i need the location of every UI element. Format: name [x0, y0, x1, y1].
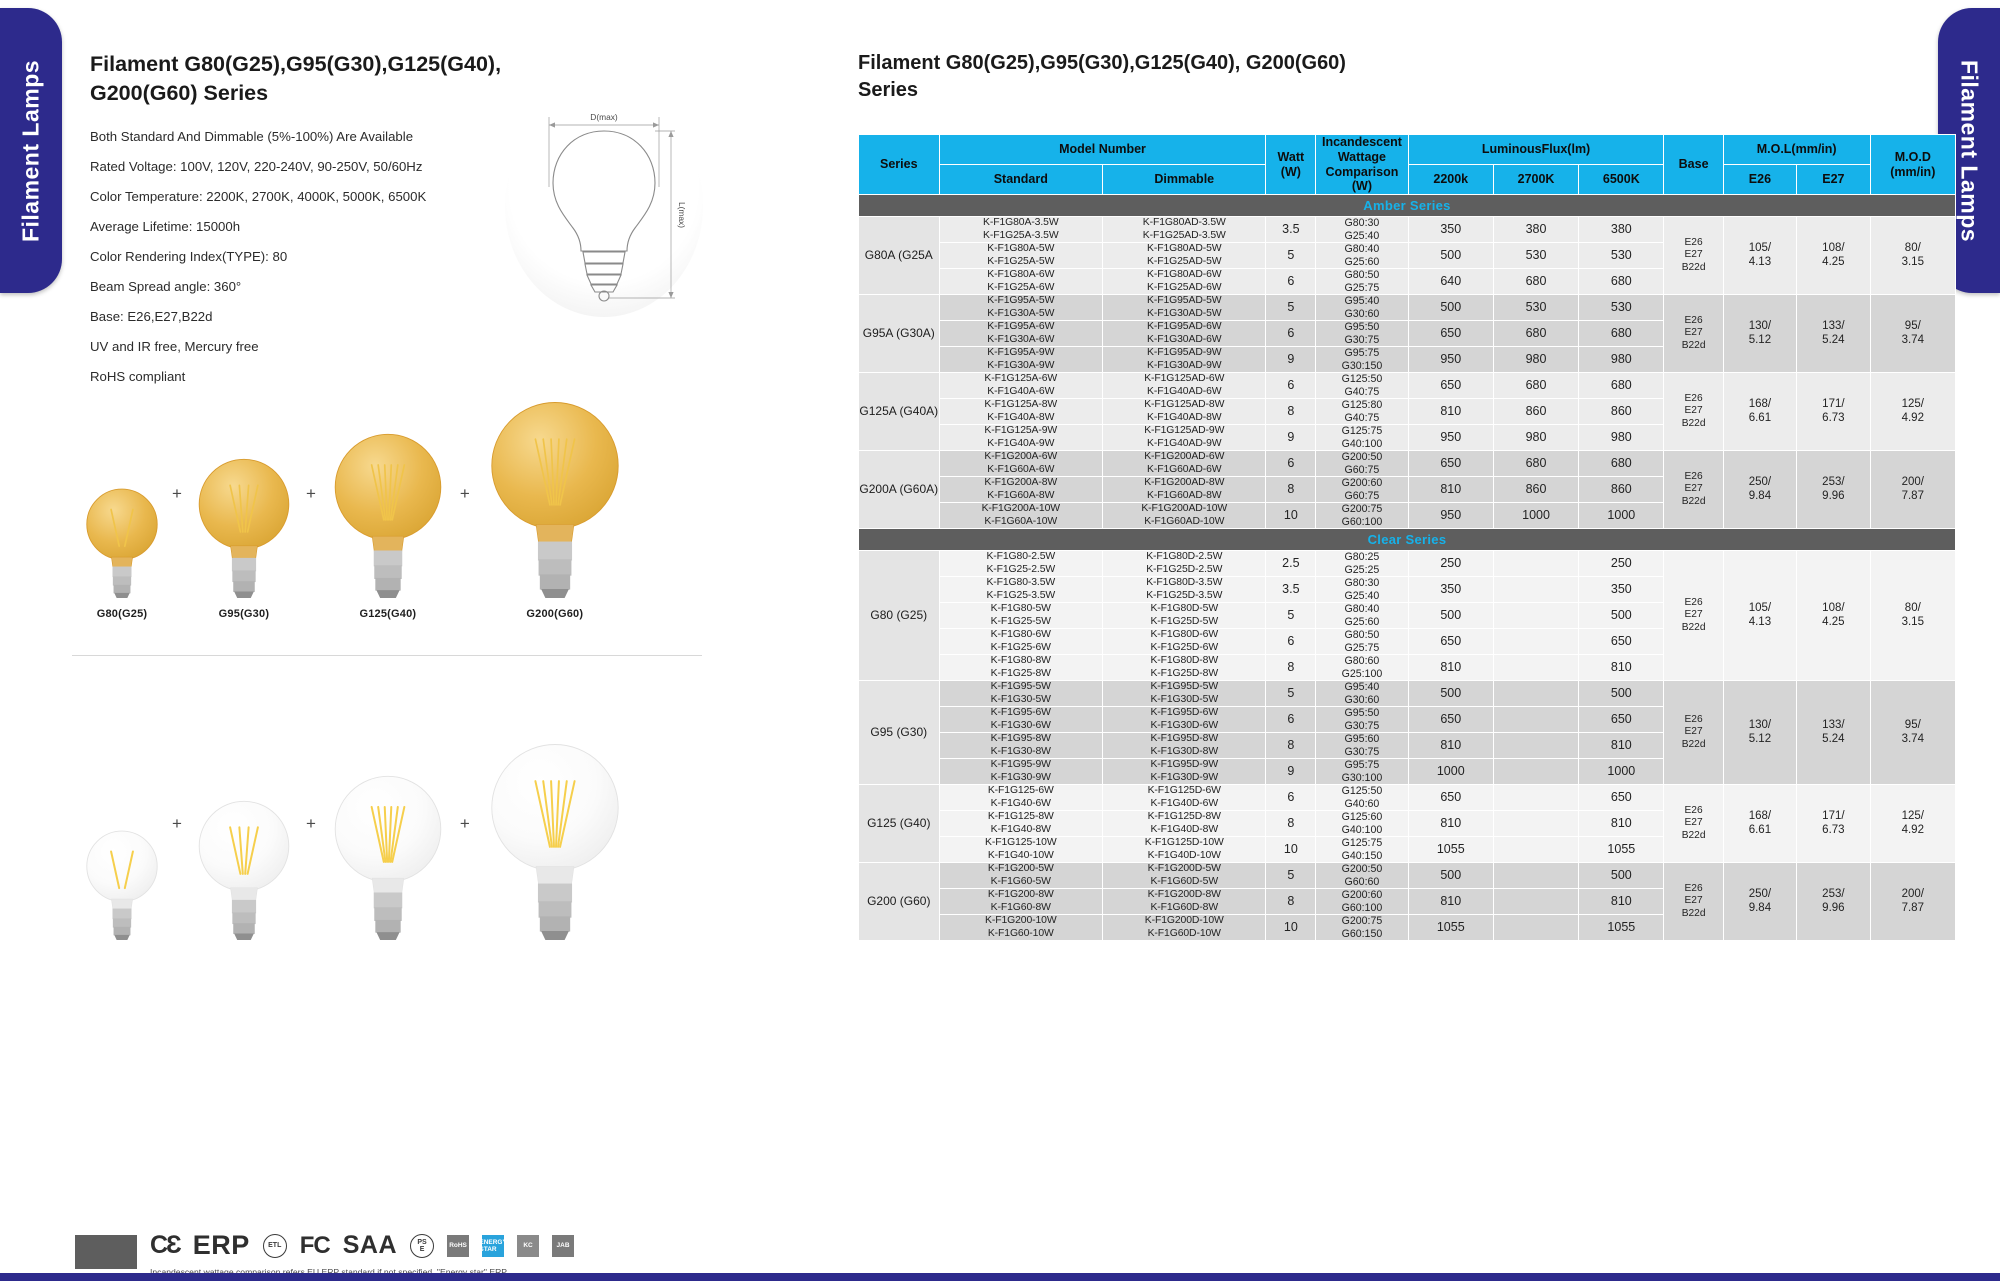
- certification-logo-row: CƐERPETLFCSAAPSERoHSENERGY STARKCJAB: [150, 1230, 574, 1261]
- cell-flux-6500k: 650: [1579, 629, 1664, 655]
- cell-mod: 95/3.74: [1870, 295, 1955, 373]
- cell-base: E26E27B22d: [1664, 373, 1723, 451]
- cell-flux-2700k: 980: [1493, 425, 1578, 451]
- left-side-ribbon: Filament Lamps: [0, 8, 62, 293]
- bulb-label: G125(G40): [359, 608, 416, 620]
- table-title: Filament G80(G25),G95(G30),G125(G40), G2…: [858, 50, 1378, 104]
- amber-bulb-gallery: G80(G25)+ G95(G30)+ G125: [78, 415, 703, 620]
- cell-mol-e26: 168/6.61: [1723, 785, 1796, 863]
- bulb-item: [322, 764, 454, 950]
- cell-mod: 80/3.15: [1870, 217, 1955, 295]
- cell-incandescent-comparison: G80:40G25:60: [1316, 603, 1408, 629]
- cell-flux-6500k: 860: [1579, 477, 1664, 503]
- cell-standard-model: K-F1G80-6WK-F1G25-6W: [939, 629, 1102, 655]
- cell-incandescent-comparison: G80:60G25:100: [1316, 655, 1408, 681]
- cell-flux-2700k: [1493, 915, 1578, 941]
- cell-dimmable-model: K-F1G80D-6WK-F1G25D-6W: [1103, 629, 1266, 655]
- cell-dimmable-model: K-F1G125AD-6WK-F1G40AD-6W: [1103, 373, 1266, 399]
- cell-dimmable-model: K-F1G80AD-3.5WK-F1G25AD-3.5W: [1103, 217, 1266, 243]
- cell-incandescent-comparison: G80:40G25:60: [1316, 243, 1408, 269]
- section-divider: [72, 655, 702, 656]
- cell-incandescent-comparison: G125:50G40:60: [1316, 785, 1408, 811]
- cell-flux-2200k: 250: [1408, 551, 1493, 577]
- cell-flux-2700k: [1493, 603, 1578, 629]
- cell-flux-2200k: 500: [1408, 681, 1493, 707]
- cell-incandescent-comparison: G200:75G60:100: [1316, 503, 1408, 529]
- cell-dimmable-model: K-F1G125D-10WK-F1G40D-10W: [1103, 837, 1266, 863]
- spec-item: UV and IR free, Mercury free: [90, 339, 790, 356]
- cell-standard-model: K-F1G80A-3.5WK-F1G25A-3.5W: [939, 217, 1102, 243]
- cell-flux-2200k: 500: [1408, 603, 1493, 629]
- cell-flux-2700k: 860: [1493, 399, 1578, 425]
- cell-watt: 9: [1266, 347, 1316, 373]
- cell-standard-model: K-F1G200A-10WK-F1G60A-10W: [939, 503, 1102, 529]
- table-body: Amber SeriesG80A (G25AK-F1G80A-3.5WK-F1G…: [859, 195, 1956, 941]
- cell-flux-6500k: 650: [1579, 785, 1664, 811]
- cell-watt: 2.5: [1266, 551, 1316, 577]
- cell-dimmable-model: K-F1G95D-8WK-F1G30D-8W: [1103, 733, 1266, 759]
- cell-flux-6500k: 380: [1579, 217, 1664, 243]
- cell-flux-6500k: 680: [1579, 451, 1664, 477]
- cell-standard-model: K-F1G125A-9WK-F1G40A-9W: [939, 425, 1102, 451]
- cell-standard-model: K-F1G200-8WK-F1G60-8W: [939, 889, 1102, 915]
- cell-flux-2700k: 380: [1493, 217, 1578, 243]
- cell-dimmable-model: K-F1G80D-2.5WK-F1G25D-2.5W: [1103, 551, 1266, 577]
- cell-watt: 5: [1266, 603, 1316, 629]
- cell-mod: 200/7.87: [1870, 451, 1955, 529]
- cell-incandescent-comparison: G125:75G40:150: [1316, 837, 1408, 863]
- bulb-separator: +: [172, 484, 182, 504]
- cell-watt: 8: [1266, 477, 1316, 503]
- table-header: Series Model Number Watt (W) Incandescen…: [859, 135, 1956, 195]
- cell-flux-2200k: 350: [1408, 577, 1493, 603]
- cell-incandescent-comparison: G125:80G40:75: [1316, 399, 1408, 425]
- table-row: G95A (G30A)K-F1G95A-5WK-F1G30A-5WK-F1G95…: [859, 295, 1956, 321]
- cell-flux-2200k: 950: [1408, 503, 1493, 529]
- cell-flux-2700k: [1493, 707, 1578, 733]
- cell-standard-model: K-F1G125-6WK-F1G40-6W: [939, 785, 1102, 811]
- bulb-separator: +: [306, 814, 316, 834]
- cell-incandescent-comparison: G200:50G60:75: [1316, 451, 1408, 477]
- cell-incandescent-comparison: G95:50G30:75: [1316, 321, 1408, 347]
- cell-base: E26E27B22d: [1664, 785, 1723, 863]
- cell-watt: 8: [1266, 733, 1316, 759]
- cell-flux-2700k: 680: [1493, 451, 1578, 477]
- cell-series: G80A (G25A: [859, 217, 940, 295]
- bulb-illustration: [188, 449, 300, 598]
- cell-watt: 6: [1266, 373, 1316, 399]
- cell-watt: 3.5: [1266, 217, 1316, 243]
- header-incandescent-main: Incandescent Wattage Comparison: [1316, 135, 1407, 179]
- bulb-label: G200(G60): [526, 608, 583, 620]
- series-band-row: Clear Series: [859, 529, 1956, 551]
- cell-base: E26E27B22d: [1664, 451, 1723, 529]
- cell-flux-6500k: 810: [1579, 733, 1664, 759]
- bulb-item: G80(G25): [78, 481, 166, 620]
- cell-standard-model: K-F1G200A-8WK-F1G60A-8W: [939, 477, 1102, 503]
- erp-mark: ERP: [193, 1230, 250, 1261]
- cell-flux-2700k: [1493, 681, 1578, 707]
- cell-flux-2700k: [1493, 811, 1578, 837]
- cell-mol-e27: 171/6.73: [1797, 373, 1870, 451]
- ce-mark: CƐ: [150, 1231, 180, 1260]
- cell-flux-2700k: 530: [1493, 295, 1578, 321]
- bulb-item: G95(G30): [188, 449, 300, 620]
- cell-flux-6500k: 810: [1579, 889, 1664, 915]
- cell-dimmable-model: K-F1G200AD-8WK-F1G60AD-8W: [1103, 477, 1266, 503]
- cell-flux-2700k: [1493, 733, 1578, 759]
- table-row: G125A (G40A)K-F1G125A-6WK-F1G40A-6WK-F1G…: [859, 373, 1956, 399]
- cell-dimmable-model: K-F1G80D-3.5WK-F1G25D-3.5W: [1103, 577, 1266, 603]
- cell-base: E26E27B22d: [1664, 295, 1723, 373]
- cell-dimmable-model: K-F1G95D-9WK-F1G30D-9W: [1103, 759, 1266, 785]
- cell-flux-6500k: 680: [1579, 321, 1664, 347]
- cell-incandescent-comparison: G200:60G60:100: [1316, 889, 1408, 915]
- cell-base: E26E27B22d: [1664, 681, 1723, 785]
- cell-flux-6500k: 500: [1579, 603, 1664, 629]
- header-mol-e26: E26: [1723, 165, 1796, 195]
- specification-table: Series Model Number Watt (W) Incandescen…: [858, 134, 1956, 941]
- bulb-item: [188, 791, 300, 950]
- cell-flux-2700k: 680: [1493, 373, 1578, 399]
- cell-flux-6500k: 1000: [1579, 759, 1664, 785]
- header-mol: M.O.L(mm/in): [1723, 135, 1870, 165]
- cell-flux-2200k: 650: [1408, 707, 1493, 733]
- cell-standard-model: K-F1G125A-6WK-F1G40A-6W: [939, 373, 1102, 399]
- table-row: G125 (G40)K-F1G125-6WK-F1G40-6WK-F1G125D…: [859, 785, 1956, 811]
- cell-incandescent-comparison: G80:30G25:40: [1316, 217, 1408, 243]
- cell-mol-e26: 130/5.12: [1723, 295, 1796, 373]
- cell-flux-2200k: 1000: [1408, 759, 1493, 785]
- cell-flux-2700k: [1493, 863, 1578, 889]
- spec-item: RoHS compliant: [90, 369, 790, 386]
- cell-flux-2200k: 500: [1408, 295, 1493, 321]
- cell-standard-model: K-F1G95-5WK-F1G30-5W: [939, 681, 1102, 707]
- cell-flux-2200k: 650: [1408, 785, 1493, 811]
- cell-watt: 6: [1266, 707, 1316, 733]
- cell-series: G200A (G60A): [859, 451, 940, 529]
- cell-flux-2200k: 650: [1408, 629, 1493, 655]
- bulb-separator: +: [306, 484, 316, 504]
- cell-series: G95 (G30): [859, 681, 940, 785]
- cell-standard-model: K-F1G95-6WK-F1G30-6W: [939, 707, 1102, 733]
- cell-dimmable-model: K-F1G95AD-9WK-F1G30AD-9W: [1103, 347, 1266, 373]
- cell-flux-2200k: 950: [1408, 347, 1493, 373]
- cell-standard-model: K-F1G80-3.5WK-F1G25-3.5W: [939, 577, 1102, 603]
- cell-flux-2700k: 680: [1493, 321, 1578, 347]
- cell-incandescent-comparison: G95:75G30:150: [1316, 347, 1408, 373]
- cell-flux-6500k: 530: [1579, 295, 1664, 321]
- cell-flux-6500k: 1055: [1579, 837, 1664, 863]
- header-watt-unit: (W): [1266, 165, 1315, 180]
- kc-mark: KC: [517, 1235, 539, 1257]
- series-band-label: Clear Series: [859, 529, 1956, 551]
- bulb-illustration: [78, 823, 166, 940]
- diagram-height-label: L(max): [677, 202, 687, 228]
- cell-incandescent-comparison: G95:40G30:60: [1316, 681, 1408, 707]
- cell-watt: 10: [1266, 503, 1316, 529]
- cell-dimmable-model: K-F1G200D-10WK-F1G60D-10W: [1103, 915, 1266, 941]
- cell-flux-2700k: [1493, 655, 1578, 681]
- cell-flux-2200k: 810: [1408, 733, 1493, 759]
- cell-flux-6500k: 680: [1579, 269, 1664, 295]
- cell-base: E26E27B22d: [1664, 863, 1723, 941]
- cell-flux-6500k: 980: [1579, 425, 1664, 451]
- cell-incandescent-comparison: G200:75G60:150: [1316, 915, 1408, 941]
- cell-flux-2700k: 530: [1493, 243, 1578, 269]
- footer-swatch: [75, 1235, 137, 1269]
- bulb-illustration: [476, 388, 634, 598]
- cell-flux-2200k: 950: [1408, 425, 1493, 451]
- cell-flux-2700k: [1493, 551, 1578, 577]
- header-mol-e27: E27: [1797, 165, 1870, 195]
- cell-watt: 9: [1266, 759, 1316, 785]
- cell-incandescent-comparison: G95:60G30:75: [1316, 733, 1408, 759]
- cell-dimmable-model: K-F1G80D-5WK-F1G25D-5W: [1103, 603, 1266, 629]
- cell-flux-2200k: 500: [1408, 243, 1493, 269]
- cell-flux-2700k: [1493, 785, 1578, 811]
- cell-mol-e27: 253/9.96: [1797, 863, 1870, 941]
- table-row: G200A (G60A)K-F1G200A-6WK-F1G60A-6WK-F1G…: [859, 451, 1956, 477]
- cell-mol-e27: 253/9.96: [1797, 451, 1870, 529]
- table-row: G80 (G25)K-F1G80-2.5WK-F1G25-2.5WK-F1G80…: [859, 551, 1956, 577]
- cell-flux-2200k: 810: [1408, 399, 1493, 425]
- cell-base: E26E27B22d: [1664, 551, 1723, 681]
- cell-standard-model: K-F1G80A-5WK-F1G25A-5W: [939, 243, 1102, 269]
- cell-standard-model: K-F1G95A-6WK-F1G30A-6W: [939, 321, 1102, 347]
- table-row: G200 (G60)K-F1G200-5WK-F1G60-5WK-F1G200D…: [859, 863, 1956, 889]
- cell-series: G200 (G60): [859, 863, 940, 941]
- cell-standard-model: K-F1G95-8WK-F1G30-8W: [939, 733, 1102, 759]
- cell-standard-model: K-F1G80-5WK-F1G25-5W: [939, 603, 1102, 629]
- cell-standard-model: K-F1G80A-6WK-F1G25A-6W: [939, 269, 1102, 295]
- cell-incandescent-comparison: G80:50G25:75: [1316, 269, 1408, 295]
- bulb-separator: +: [460, 814, 470, 834]
- cell-series: G80 (G25): [859, 551, 940, 681]
- cell-series: G125A (G40A): [859, 373, 940, 451]
- bulb-item: [476, 730, 634, 950]
- cell-flux-2700k: 1000: [1493, 503, 1578, 529]
- cell-mod: 95/3.74: [1870, 681, 1955, 785]
- cell-mol-e26: 130/5.12: [1723, 681, 1796, 785]
- cell-flux-2700k: 860: [1493, 477, 1578, 503]
- cell-watt: 5: [1266, 681, 1316, 707]
- cell-mol-e27: 171/6.73: [1797, 785, 1870, 863]
- header-luminous-flux: LuminousFlux(lm): [1408, 135, 1664, 165]
- bulb-illustration: [322, 422, 454, 598]
- cell-incandescent-comparison: G125:75G40:100: [1316, 425, 1408, 451]
- cell-flux-2200k: 1055: [1408, 837, 1493, 863]
- bulb-illustration: [322, 764, 454, 940]
- cell-dimmable-model: K-F1G80D-8WK-F1G25D-8W: [1103, 655, 1266, 681]
- bulb-dimension-drawing: D(max) L(max): [505, 95, 703, 317]
- diagram-width-label: D(max): [590, 112, 618, 122]
- series-band-row: Amber Series: [859, 195, 1956, 217]
- header-incandescent-wattage: Incandescent Wattage Comparison (W): [1316, 135, 1408, 195]
- cell-dimmable-model: K-F1G80AD-5WK-F1G25AD-5W: [1103, 243, 1266, 269]
- cell-incandescent-comparison: G95:40G30:60: [1316, 295, 1408, 321]
- cell-mod: 125/4.92: [1870, 785, 1955, 863]
- cell-series: G125 (G40): [859, 785, 940, 863]
- page-title: Filament G80(G25),G95(G30),G125(G40), G2…: [90, 50, 560, 107]
- cell-standard-model: K-F1G200-10WK-F1G60-10W: [939, 915, 1102, 941]
- cell-incandescent-comparison: G80:25G25:25: [1316, 551, 1408, 577]
- page-footer: CƐERPETLFCSAAPSERoHSENERGY STARKCJAB Inc…: [0, 1235, 2000, 1281]
- cell-watt: 10: [1266, 915, 1316, 941]
- header-cct-2200k: 2200k: [1408, 165, 1493, 195]
- cell-dimmable-model: K-F1G95D-6WK-F1G30D-6W: [1103, 707, 1266, 733]
- header-model-number: Model Number: [939, 135, 1266, 165]
- cell-dimmable-model: K-F1G80AD-6WK-F1G25AD-6W: [1103, 269, 1266, 295]
- rohs-mark: RoHS: [447, 1235, 469, 1257]
- saa-mark: SAA: [343, 1231, 397, 1260]
- cell-standard-model: K-F1G200-5WK-F1G60-5W: [939, 863, 1102, 889]
- cell-incandescent-comparison: G125:50G40:75: [1316, 373, 1408, 399]
- cell-flux-2200k: 810: [1408, 889, 1493, 915]
- cell-dimmable-model: K-F1G95AD-6WK-F1G30AD-6W: [1103, 321, 1266, 347]
- cell-flux-2700k: [1493, 889, 1578, 915]
- bulb-label: G95(G30): [219, 608, 270, 620]
- cell-mol-e27: 133/5.24: [1797, 295, 1870, 373]
- cell-standard-model: K-F1G125A-8WK-F1G40A-8W: [939, 399, 1102, 425]
- bulb-item: G125(G40): [322, 422, 454, 620]
- bulb-separator: +: [172, 814, 182, 834]
- cell-mol-e26: 250/9.84: [1723, 863, 1796, 941]
- header-mod: M.O.D (mm/in): [1870, 135, 1955, 195]
- cell-flux-6500k: 680: [1579, 373, 1664, 399]
- cell-mol-e26: 105/4.13: [1723, 217, 1796, 295]
- cell-standard-model: K-F1G80-2.5WK-F1G25-2.5W: [939, 551, 1102, 577]
- cell-flux-6500k: 1055: [1579, 915, 1664, 941]
- cell-watt: 10: [1266, 837, 1316, 863]
- cell-series: G95A (G30A): [859, 295, 940, 373]
- cell-flux-6500k: 860: [1579, 399, 1664, 425]
- cell-mod: 200/7.87: [1870, 863, 1955, 941]
- fcc-mark: FC: [300, 1232, 330, 1260]
- cell-flux-2200k: 810: [1408, 811, 1493, 837]
- header-dimmable: Dimmable: [1103, 165, 1266, 195]
- cell-flux-2200k: 650: [1408, 373, 1493, 399]
- jab-mark: JAB: [552, 1235, 574, 1257]
- cell-watt: 6: [1266, 269, 1316, 295]
- pse-mark: PSE: [410, 1234, 434, 1258]
- cell-incandescent-comparison: G200:60G60:75: [1316, 477, 1408, 503]
- cell-dimmable-model: K-F1G95D-5WK-F1G30D-5W: [1103, 681, 1266, 707]
- cell-flux-6500k: 980: [1579, 347, 1664, 373]
- dimension-diagram: D(max) L(max): [505, 95, 703, 317]
- header-standard: Standard: [939, 165, 1102, 195]
- cell-watt: 6: [1266, 451, 1316, 477]
- cell-flux-2700k: 680: [1493, 269, 1578, 295]
- cell-incandescent-comparison: G125:60G40:100: [1316, 811, 1408, 837]
- cell-incandescent-comparison: G80:30G25:40: [1316, 577, 1408, 603]
- cell-watt: 5: [1266, 863, 1316, 889]
- right-content-column: Filament G80(G25),G95(G30),G125(G40), G2…: [858, 50, 1958, 941]
- cell-incandescent-comparison: G95:75G30:100: [1316, 759, 1408, 785]
- cell-flux-2700k: 980: [1493, 347, 1578, 373]
- header-watt: Watt (W): [1266, 135, 1316, 195]
- cell-mol-e26: 250/9.84: [1723, 451, 1796, 529]
- cell-flux-6500k: 1000: [1579, 503, 1664, 529]
- header-series: Series: [859, 135, 940, 195]
- cell-flux-6500k: 250: [1579, 551, 1664, 577]
- right-ribbon-label: Filament Lamps: [1956, 59, 1983, 241]
- table-row: G80A (G25AK-F1G80A-3.5WK-F1G25A-3.5WK-F1…: [859, 217, 1956, 243]
- cell-watt: 9: [1266, 425, 1316, 451]
- header-incandescent-unit: (W): [1316, 179, 1407, 194]
- cell-mol-e26: 105/4.13: [1723, 551, 1796, 681]
- cell-incandescent-comparison: G200:50G60:60: [1316, 863, 1408, 889]
- cell-watt: 8: [1266, 399, 1316, 425]
- cell-mol-e27: 108/4.25: [1797, 217, 1870, 295]
- cell-watt: 5: [1266, 295, 1316, 321]
- cell-standard-model: K-F1G125-8WK-F1G40-8W: [939, 811, 1102, 837]
- cell-dimmable-model: K-F1G125D-8WK-F1G40D-8W: [1103, 811, 1266, 837]
- cell-watt: 8: [1266, 811, 1316, 837]
- header-watt-main: Watt: [1266, 150, 1315, 165]
- cell-watt: 8: [1266, 889, 1316, 915]
- header-base: Base: [1664, 135, 1723, 195]
- cell-mol-e27: 133/5.24: [1797, 681, 1870, 785]
- cell-standard-model: K-F1G80-8WK-F1G25-8W: [939, 655, 1102, 681]
- clear-bulb-gallery: + + +: [78, 745, 703, 950]
- cell-dimmable-model: K-F1G200D-8WK-F1G60D-8W: [1103, 889, 1266, 915]
- cell-flux-2200k: 650: [1408, 451, 1493, 477]
- cell-flux-2200k: 350: [1408, 217, 1493, 243]
- cell-dimmable-model: K-F1G200D-5WK-F1G60D-5W: [1103, 863, 1266, 889]
- cell-mod: 125/4.92: [1870, 373, 1955, 451]
- cell-dimmable-model: K-F1G200AD-6WK-F1G60AD-6W: [1103, 451, 1266, 477]
- bulb-separator: +: [460, 484, 470, 504]
- cell-mol-e27: 108/4.25: [1797, 551, 1870, 681]
- cell-flux-6500k: 500: [1579, 863, 1664, 889]
- series-band-label: Amber Series: [859, 195, 1956, 217]
- cell-flux-2700k: [1493, 629, 1578, 655]
- bulb-illustration: [188, 791, 300, 940]
- header-cct-6500k: 6500K: [1579, 165, 1664, 195]
- cell-flux-2200k: 650: [1408, 321, 1493, 347]
- cell-dimmable-model: K-F1G125AD-8WK-F1G40AD-8W: [1103, 399, 1266, 425]
- bulb-label: G80(G25): [97, 608, 148, 620]
- bulb-item: [78, 823, 166, 950]
- cell-watt: 3.5: [1266, 577, 1316, 603]
- cell-dimmable-model: K-F1G125D-6WK-F1G40D-6W: [1103, 785, 1266, 811]
- cell-mod: 80/3.15: [1870, 551, 1955, 681]
- cell-flux-2700k: [1493, 837, 1578, 863]
- cell-mol-e26: 168/6.61: [1723, 373, 1796, 451]
- cell-watt: 6: [1266, 629, 1316, 655]
- bulb-item: G200(G60): [476, 388, 634, 620]
- cell-flux-6500k: 810: [1579, 655, 1664, 681]
- header-cct-2700k: 2700K: [1493, 165, 1578, 195]
- cell-standard-model: K-F1G95A-5WK-F1G30A-5W: [939, 295, 1102, 321]
- cell-flux-6500k: 350: [1579, 577, 1664, 603]
- cell-dimmable-model: K-F1G95AD-5WK-F1G30AD-5W: [1103, 295, 1266, 321]
- left-ribbon-label: Filament Lamps: [18, 59, 45, 241]
- cell-incandescent-comparison: G95:50G30:75: [1316, 707, 1408, 733]
- cell-flux-2200k: 640: [1408, 269, 1493, 295]
- cell-watt: 6: [1266, 785, 1316, 811]
- cell-dimmable-model: K-F1G200AD-10WK-F1G60AD-10W: [1103, 503, 1266, 529]
- cell-flux-6500k: 500: [1579, 681, 1664, 707]
- cell-flux-6500k: 650: [1579, 707, 1664, 733]
- cell-base: E26E27B22d: [1664, 217, 1723, 295]
- cell-standard-model: K-F1G200A-6WK-F1G60A-6W: [939, 451, 1102, 477]
- cell-incandescent-comparison: G80:50G25:75: [1316, 629, 1408, 655]
- cell-flux-6500k: 810: [1579, 811, 1664, 837]
- cell-watt: 5: [1266, 243, 1316, 269]
- table-row: G95 (G30)K-F1G95-5WK-F1G30-5WK-F1G95D-5W…: [859, 681, 1956, 707]
